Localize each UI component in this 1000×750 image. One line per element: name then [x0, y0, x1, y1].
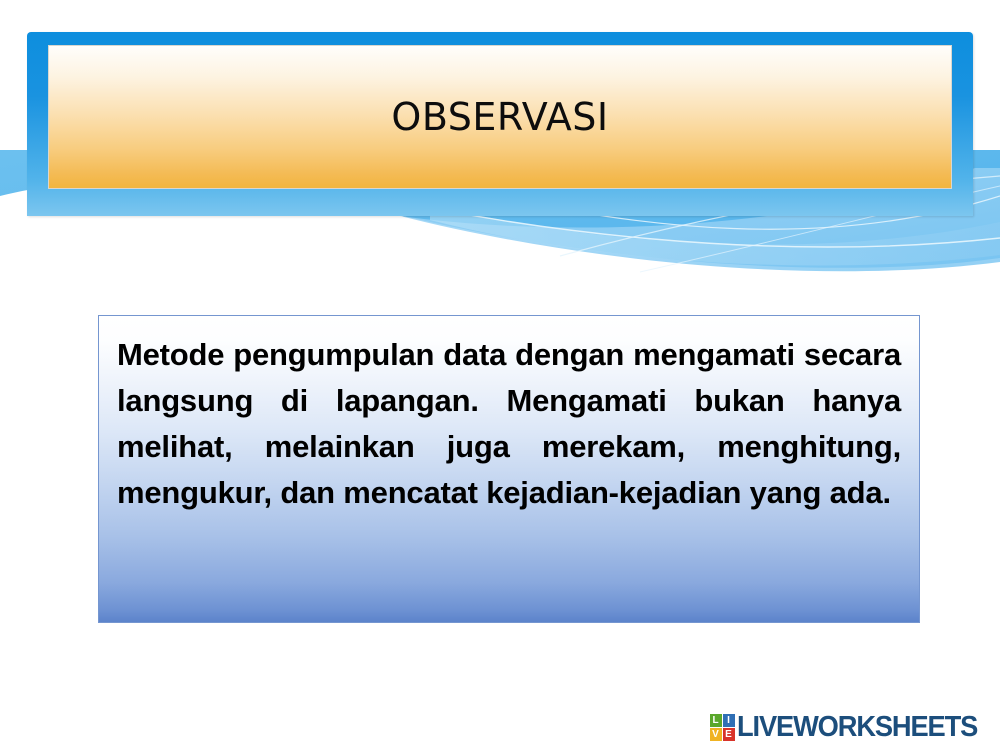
liveworksheets-logo-icon: L I V E [710, 714, 735, 741]
slide-header-band: OBSERVASI [0, 0, 1000, 300]
logo-tile-e: E [723, 728, 735, 741]
slide-canvas: OBSERVASI Metode pengumpulan data dengan… [0, 0, 1000, 750]
liveworksheets-wordmark: LIVEWORKSHEETS [737, 713, 977, 742]
title-panel: OBSERVASI [48, 45, 952, 189]
content-text-box: Metode pengumpulan data dengan mengamati… [98, 315, 920, 623]
page-title: OBSERVASI [391, 98, 608, 136]
title-frame: OBSERVASI [27, 32, 973, 216]
liveworksheets-watermark: L I V E LIVEWORKSHEETS [710, 713, 993, 742]
logo-tile-i: I [723, 714, 735, 727]
logo-tile-v: V [710, 728, 722, 741]
content-paragraph: Metode pengumpulan data dengan mengamati… [117, 332, 901, 516]
logo-tile-l: L [710, 714, 722, 727]
